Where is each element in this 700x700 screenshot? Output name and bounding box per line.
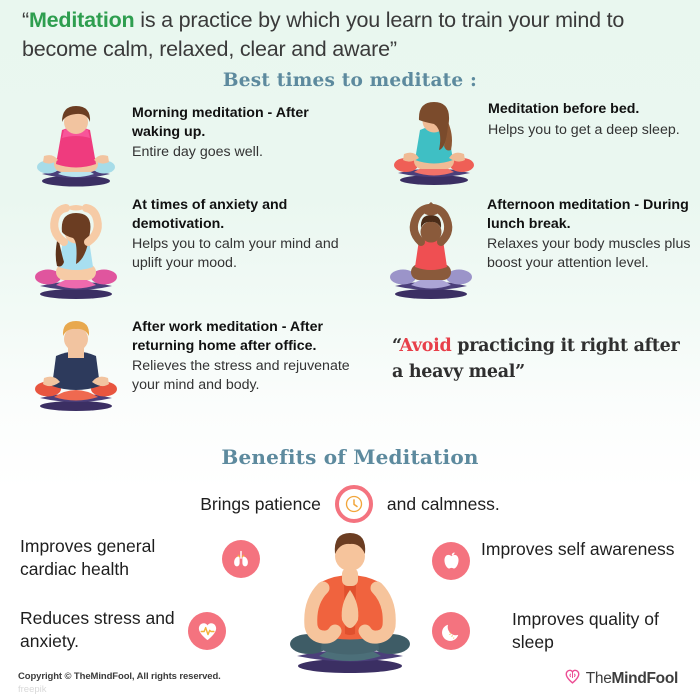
avoid-quote-keyword: Avoid [399,336,451,356]
woman-arms-overhead-yoga-illustration [28,196,124,309]
benefits-section-title: Benefits of Meditation [0,445,700,469]
time-card-morning: Morning meditation - After waking up. En… [28,104,358,195]
heart-pulse-icon [188,612,226,650]
benefit-cardiac-label: Improves general cardiac health [20,535,205,581]
woman-teal-top-long-hair-meditating-illustration [388,100,480,195]
person-arms-raised-prayer-yoga-illustration [383,196,479,309]
time-card-bed-headline: Meditation before bed. [488,100,680,119]
benefit-patience-text-after: and calmness. [387,493,500,516]
time-card-afternoon-detail: Relaxes your body muscles plus boost you… [487,235,698,272]
lungs-icon [222,540,260,578]
benefit-sleep-label: Improves quality of sleep [512,608,697,654]
time-card-afternoon-headline: Afternoon meditation - During lunch brea… [487,196,698,233]
brand-logo: TheMindFool [564,668,678,690]
man-orange-shirt-prayer-meditating-illustration [285,528,415,681]
avoid-quote: “Avoid practicing it right after a heavy… [392,333,692,385]
time-card-bed: Meditation before bed. Helps you to get … [388,100,698,195]
copyright-text: Copyright © TheMindFool, All rights rese… [18,671,221,682]
brand-name-bold: MindFool [612,670,678,687]
woman-pink-top-meditating-illustration [28,104,124,195]
time-card-anxiety-detail: Helps you to calm your mind and uplift y… [132,235,368,272]
apple-icon [432,542,470,580]
brand-name: TheMindFool [586,670,678,688]
best-times-section-title: Best times to meditate : [0,70,700,91]
time-card-afterwork: After work meditation - After returning … [28,318,378,421]
quote-highlight-word: Meditation [29,8,135,32]
time-card-morning-headline: Morning meditation - After waking up. [132,104,358,141]
moon-sleep-icon: z z z [432,612,470,650]
benefit-patience: Brings patience and calmness. [0,485,700,523]
time-card-morning-detail: Entire day goes well. [132,143,358,162]
time-card-anxiety-headline: At times of anxiety and demotivation. [132,196,368,233]
brand-name-light: The [586,670,612,687]
attribution-watermark: freepik [18,684,47,695]
benefit-self-awareness-label: Improves self awareness [481,538,681,561]
time-card-afterwork-detail: Relieves the stress and rejuvenate your … [132,357,378,394]
benefit-patience-text-before: Brings patience [200,493,321,516]
benefit-stress-label: Reduces stress and anxiety. [20,607,205,653]
time-card-afterwork-headline: After work meditation - After returning … [132,318,378,355]
time-card-bed-detail: Helps you to get a deep sleep. [488,121,680,140]
time-card-afternoon: Afternoon meditation - During lunch brea… [383,196,698,309]
man-navy-shirt-meditating-illustration [28,318,124,421]
time-card-anxiety: At times of anxiety and demotivation. He… [28,196,368,309]
page-title: “Meditation is a practice by which you l… [22,6,682,64]
quote-open-mark: “ [22,8,29,32]
heart-brain-logo-icon [564,668,581,690]
clock-icon [335,485,373,523]
